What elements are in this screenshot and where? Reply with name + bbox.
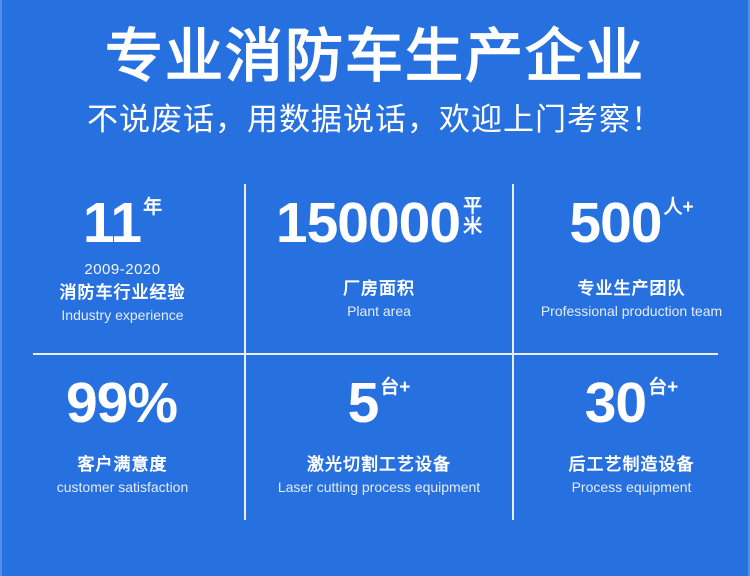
stat-unit: 人+ [664, 197, 694, 218]
stat-label-cn: 后工艺制造设备 [569, 454, 695, 476]
stat-unit: 年 [143, 197, 162, 218]
stat-label-en: Process equipment [572, 478, 692, 496]
banner-header: 专业消防车生产企业 不说废话，用数据说话，欢迎上门考察！ [0, 22, 750, 140]
stat-value: 500 [569, 194, 661, 252]
stat-value-row: 99% [66, 374, 179, 436]
stat-range: 2009-2020 [84, 260, 160, 279]
stat-value: 30 [585, 374, 646, 432]
stat-unit: 平 米 [463, 197, 482, 237]
stat-value: 150000 [276, 194, 460, 252]
stat-label-cn: 专业生产团队 [578, 278, 686, 300]
page-title: 专业消防车生产企业 [0, 22, 750, 92]
stat-unit-line-2: 米 [463, 217, 482, 237]
stat-value-row: 150000 平 米 [276, 194, 482, 256]
stats-grid: 11 年 2009-2020 消防车行业经验 Industry experien… [0, 176, 750, 528]
stat-cell-industry-experience: 11 年 2009-2020 消防车行业经验 Industry experien… [0, 176, 245, 354]
stat-value-row: 5 台+ [348, 374, 411, 436]
stat-value: 11 [83, 194, 141, 252]
stat-value: 5 [348, 374, 379, 432]
stat-value-row: 30 台+ [585, 374, 679, 436]
stat-value-row: 11 年 [83, 194, 162, 256]
stat-cell-customer-satisfaction: 99% 客户满意度 customer satisfaction [0, 354, 245, 528]
stat-value-row: 500 人+ [569, 194, 693, 256]
page-subtitle: 不说废话，用数据说话，欢迎上门考察！ [0, 100, 750, 140]
stat-label-cn: 客户满意度 [78, 454, 168, 476]
stat-label-cn: 消防车行业经验 [60, 282, 186, 304]
stat-cell-laser-cutting-equipment: 5 台+ 激光切割工艺设备 Laser cutting process equi… [245, 354, 513, 528]
stat-cell-production-team: 500 人+ 专业生产团队 Professional production te… [513, 176, 750, 354]
stat-unit-line-1: 平 [463, 197, 482, 217]
stat-cell-process-equipment: 30 台+ 后工艺制造设备 Process equipment [513, 354, 750, 528]
stat-value: 99% [66, 374, 177, 432]
stat-label-en: Industry experience [61, 306, 183, 324]
stat-label-en: Laser cutting process equipment [278, 478, 480, 496]
stat-label-cn: 厂房面积 [343, 278, 415, 300]
stat-label-en: customer satisfaction [57, 478, 189, 496]
stat-cell-plant-area: 150000 平 米 厂房面积 Plant area [245, 176, 513, 354]
stat-label-en: Professional production team [541, 302, 722, 320]
stat-unit: 台+ [648, 377, 678, 398]
promo-banner: 专业消防车生产企业 不说废话，用数据说话，欢迎上门考察！ 11 年 2009-2… [0, 0, 750, 576]
stat-unit: 台+ [380, 377, 410, 398]
stat-label-cn: 激光切割工艺设备 [307, 454, 451, 476]
stat-label-en: Plant area [347, 302, 411, 320]
